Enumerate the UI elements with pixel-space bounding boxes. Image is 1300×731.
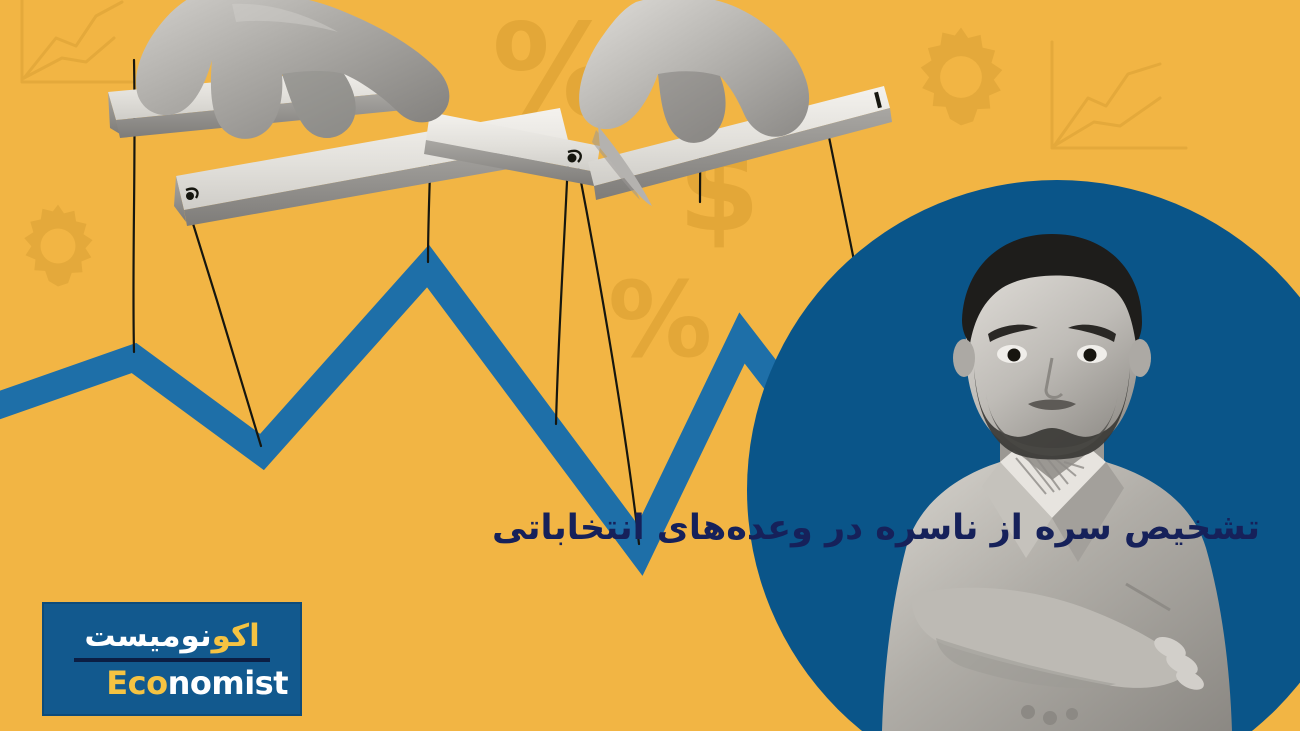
bar-peg-left bbox=[186, 192, 194, 200]
chart-watermark-top-right-icon bbox=[1044, 36, 1194, 156]
wooden-bar-middle bbox=[424, 112, 600, 186]
beard bbox=[974, 368, 1130, 460]
logo-english-wordmark: Economist bbox=[106, 667, 288, 699]
breast-pocket bbox=[1126, 584, 1170, 610]
shirt-stripes bbox=[1016, 452, 1084, 494]
mouth bbox=[1028, 400, 1076, 411]
left-hand-holding-bar bbox=[136, 0, 449, 139]
string-7 bbox=[828, 132, 862, 300]
right-hand-holding-bar bbox=[579, 0, 809, 206]
poster-canvas: % % $ bbox=[0, 0, 1300, 731]
head bbox=[966, 246, 1139, 458]
nose bbox=[1046, 358, 1062, 397]
crossed-arms bbox=[912, 588, 1192, 688]
gear-watermark-left-icon bbox=[12, 200, 104, 292]
eyebrows bbox=[988, 325, 1116, 342]
string-3 bbox=[428, 118, 432, 262]
string-4 bbox=[556, 160, 568, 424]
jacket-buttons bbox=[1021, 705, 1078, 725]
hair bbox=[962, 234, 1142, 344]
dollar-watermark: $ bbox=[678, 130, 760, 248]
portrait-photo bbox=[840, 218, 1280, 731]
logo-divider bbox=[74, 658, 270, 662]
logo-english-white: nomist bbox=[168, 664, 288, 702]
string-5 bbox=[578, 166, 639, 544]
page-title: تشخیص سره از ناسره در وعده‌های انتخاباتی bbox=[492, 508, 1270, 548]
neck bbox=[1000, 430, 1104, 504]
chart-watermark-top-left-icon bbox=[4, 0, 144, 86]
wooden-bar-right bbox=[588, 86, 892, 200]
logo-persian-wordmark: اکونومیست bbox=[84, 619, 259, 653]
logo-english-gold: Eco bbox=[106, 664, 167, 702]
ear-left bbox=[953, 339, 975, 377]
logo-persian-gold: اکو bbox=[212, 618, 260, 654]
string-2 bbox=[190, 214, 261, 446]
gear-watermark-right-icon bbox=[906, 22, 1016, 132]
ear-right bbox=[1129, 339, 1151, 377]
hand-fingers bbox=[1151, 632, 1207, 693]
economist-logo[interactable]: اکونومیست Economist bbox=[42, 602, 302, 716]
blue-circle bbox=[747, 180, 1300, 731]
bar-peg-middle bbox=[568, 154, 577, 163]
wooden-bar-upper-left bbox=[108, 66, 404, 138]
headline-container: تشخیص سره از ناسره در وعده‌های انتخاباتی bbox=[30, 498, 1270, 558]
arm-shadow bbox=[936, 638, 1116, 688]
string-1 bbox=[133, 60, 134, 352]
eyes bbox=[997, 345, 1107, 363]
percent-watermark-2: % bbox=[608, 268, 712, 372]
beard-fill bbox=[986, 394, 1118, 456]
percent-watermark-1: % bbox=[492, 8, 620, 136]
bar-end-notch bbox=[874, 92, 882, 108]
logo-persian-white: نومیست bbox=[84, 618, 211, 654]
string-6 bbox=[700, 6, 701, 202]
wooden-bar-lower-left bbox=[174, 108, 570, 226]
